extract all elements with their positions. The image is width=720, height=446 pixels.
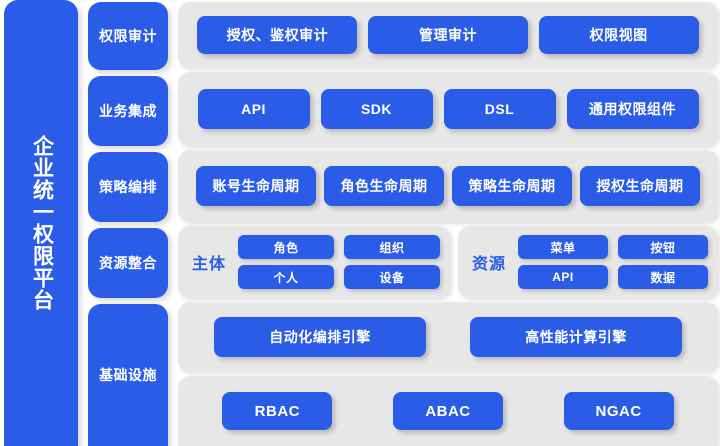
- subpanel-title: 资源: [472, 250, 506, 274]
- chip-api[interactable]: API: [198, 89, 310, 129]
- row-permission-audit: 授权、鉴权审计 管理审计 权限视图: [178, 2, 718, 68]
- architecture-diagram: 企业统一权限平台 权限审计 业务集成 策略编排 资源整合 基础设施 授权、鉴权审…: [0, 0, 720, 446]
- subpanel-resource: 资源 菜单 按钮 API 数据: [458, 226, 718, 298]
- row-business-integration: API SDK DSL 通用权限组件: [178, 72, 718, 146]
- chip-dsl[interactable]: DSL: [444, 89, 556, 129]
- row-items: API SDK DSL 通用权限组件: [178, 89, 718, 129]
- chip-management-audit[interactable]: 管理审计: [368, 16, 528, 54]
- row-resource-integration: 主体 角色 组织 个人 设备 资源 菜单 按钮 API 数据: [178, 226, 718, 298]
- chip-individual[interactable]: 个人: [238, 265, 334, 289]
- chip-account-lifecycle[interactable]: 账号生命周期: [196, 166, 316, 206]
- subpanel-title: 主体: [192, 250, 226, 274]
- chip-automation-orchestration-engine[interactable]: 自动化编排引擎: [214, 317, 426, 357]
- category-resource-integration[interactable]: 资源整合: [88, 228, 168, 298]
- chip-ngac[interactable]: NGAC: [564, 392, 674, 430]
- row-items: RBAC ABAC NGAC: [178, 392, 718, 430]
- category-policy-orchestration[interactable]: 策略编排: [88, 152, 168, 222]
- category-infrastructure[interactable]: 基础设施: [88, 304, 168, 446]
- row-items: 账号生命周期 角色生命周期 策略生命周期 授权生命周期: [178, 166, 718, 206]
- subpanel-items: 角色 组织 个人 设备: [238, 235, 440, 289]
- platform-title: 企业统一权限平台: [28, 135, 55, 311]
- category-label: 策略编排: [99, 178, 157, 197]
- category-label: 资源整合: [99, 254, 157, 273]
- category-label: 业务集成: [99, 102, 157, 121]
- chip-button[interactable]: 按钮: [618, 235, 708, 259]
- category-business-integration[interactable]: 业务集成: [88, 76, 168, 146]
- chip-organization[interactable]: 组织: [344, 235, 440, 259]
- chip-authorization-audit[interactable]: 授权、鉴权审计: [197, 16, 357, 54]
- row-policy-orchestration: 账号生命周期 角色生命周期 策略生命周期 授权生命周期: [178, 150, 718, 222]
- category-label: 权限审计: [99, 27, 157, 46]
- category-permission-audit[interactable]: 权限审计: [88, 2, 168, 70]
- row-infrastructure-engines: 自动化编排引擎 高性能计算引擎: [178, 302, 718, 372]
- chip-permission-view[interactable]: 权限视图: [539, 16, 699, 54]
- subpanel-items: 菜单 按钮 API 数据: [518, 235, 708, 289]
- chip-high-performance-computing-engine[interactable]: 高性能计算引擎: [470, 317, 682, 357]
- chip-device[interactable]: 设备: [344, 265, 440, 289]
- chip-sdk[interactable]: SDK: [321, 89, 433, 129]
- chip-authorization-lifecycle[interactable]: 授权生命周期: [580, 166, 700, 206]
- category-label: 基础设施: [99, 366, 157, 385]
- chip-policy-lifecycle[interactable]: 策略生命周期: [452, 166, 572, 206]
- platform-pillar: 企业统一权限平台: [4, 0, 78, 446]
- category-column: 权限审计 业务集成 策略编排 资源整合 基础设施: [88, 0, 168, 446]
- row-items: 自动化编排引擎 高性能计算引擎: [178, 317, 718, 357]
- chip-data[interactable]: 数据: [618, 265, 708, 289]
- row-infrastructure-models: RBAC ABAC NGAC: [178, 376, 718, 446]
- chip-menu[interactable]: 菜单: [518, 235, 608, 259]
- row-items: 授权、鉴权审计 管理审计 权限视图: [178, 16, 718, 54]
- chip-abac[interactable]: ABAC: [393, 392, 503, 430]
- chip-role[interactable]: 角色: [238, 235, 334, 259]
- subpanel-subject: 主体 角色 组织 个人 设备: [178, 226, 450, 298]
- chip-common-permission-component[interactable]: 通用权限组件: [567, 89, 699, 129]
- chip-rbac[interactable]: RBAC: [222, 392, 332, 430]
- chip-api-resource[interactable]: API: [518, 265, 608, 289]
- chip-role-lifecycle[interactable]: 角色生命周期: [324, 166, 444, 206]
